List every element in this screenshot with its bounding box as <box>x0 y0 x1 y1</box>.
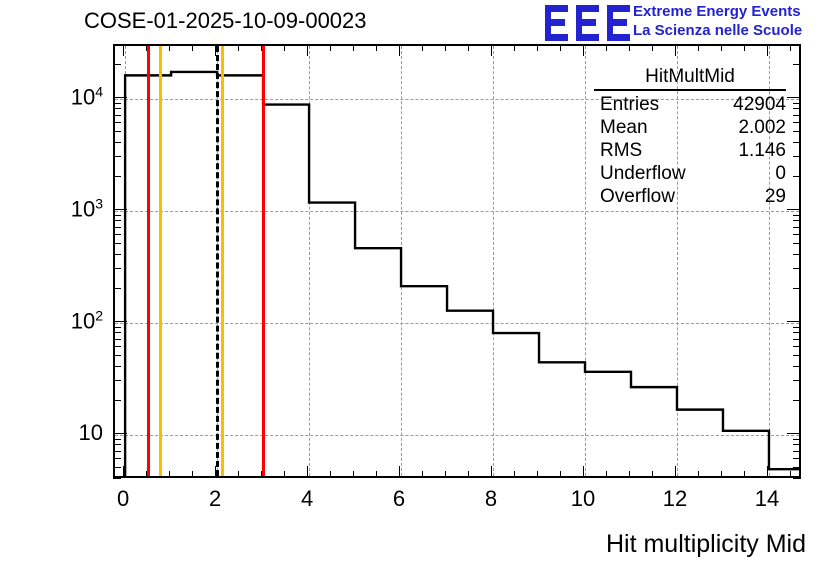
gridline-vertical <box>309 46 310 476</box>
stats-row: RMS1.146 <box>586 139 794 162</box>
stats-title: HitMultMid <box>586 66 794 89</box>
y-axis-label: 10 <box>0 420 103 446</box>
stats-row-label: Underflow <box>600 162 686 185</box>
eee-mark-icon <box>545 5 630 41</box>
stats-divider <box>594 89 786 91</box>
logo-line-1: Extreme Energy Events <box>633 3 801 20</box>
y-axis-label: 104 <box>0 84 103 111</box>
gridline-vertical <box>401 46 402 476</box>
stats-row-label: Overflow <box>600 185 675 208</box>
y-axis-label: 103 <box>0 196 103 223</box>
stats-row-label: Entries <box>600 93 659 116</box>
x-axis-label: 8 <box>485 486 497 512</box>
stats-row-value: 0 <box>775 162 786 185</box>
gridline-vertical <box>125 46 126 476</box>
gridline-horizontal <box>115 323 799 324</box>
x-axis-label: 6 <box>393 486 405 512</box>
gridline-vertical <box>217 46 218 476</box>
gridline-vertical <box>493 46 494 476</box>
x-axis-label: 4 <box>301 486 313 512</box>
page-title: COSE-01-2025-10-09-00023 <box>84 8 367 34</box>
x-axis-label: 14 <box>755 486 779 512</box>
stats-row: Underflow0 <box>586 162 794 185</box>
stats-row-label: RMS <box>600 139 642 162</box>
stats-rows: Entries42904Mean2.002RMS1.146Underflow0O… <box>586 93 794 208</box>
stats-row: Entries42904 <box>586 93 794 116</box>
stats-row-value: 1.146 <box>738 139 786 162</box>
x-axis-title: Hit multiplicity Mid <box>606 530 806 559</box>
gridline-horizontal <box>115 435 799 436</box>
x-axis-label: 2 <box>209 486 221 512</box>
stats-row-value: 29 <box>765 185 786 208</box>
stats-row: Mean2.002 <box>586 116 794 139</box>
logo-line-2: La Scienza nelle Scuole <box>633 22 802 39</box>
x-axis-label: 12 <box>663 486 687 512</box>
x-axis-label: 10 <box>571 486 595 512</box>
gridline-horizontal <box>115 211 799 212</box>
y-axis-tick <box>793 478 801 479</box>
stats-box: HitMultMid Entries42904Mean2.002RMS1.146… <box>586 66 794 208</box>
x-axis-label: 0 <box>117 486 129 512</box>
y-axis-tick <box>113 478 121 479</box>
stats-row-value: 2.002 <box>738 116 786 139</box>
stats-row-label: Mean <box>600 116 648 139</box>
y-axis-label: 102 <box>0 308 103 335</box>
stats-row-value: 42904 <box>733 93 786 116</box>
eee-logo: Extreme Energy Events La Scienza nelle S… <box>540 2 836 44</box>
stats-row: Overflow29 <box>586 185 794 208</box>
